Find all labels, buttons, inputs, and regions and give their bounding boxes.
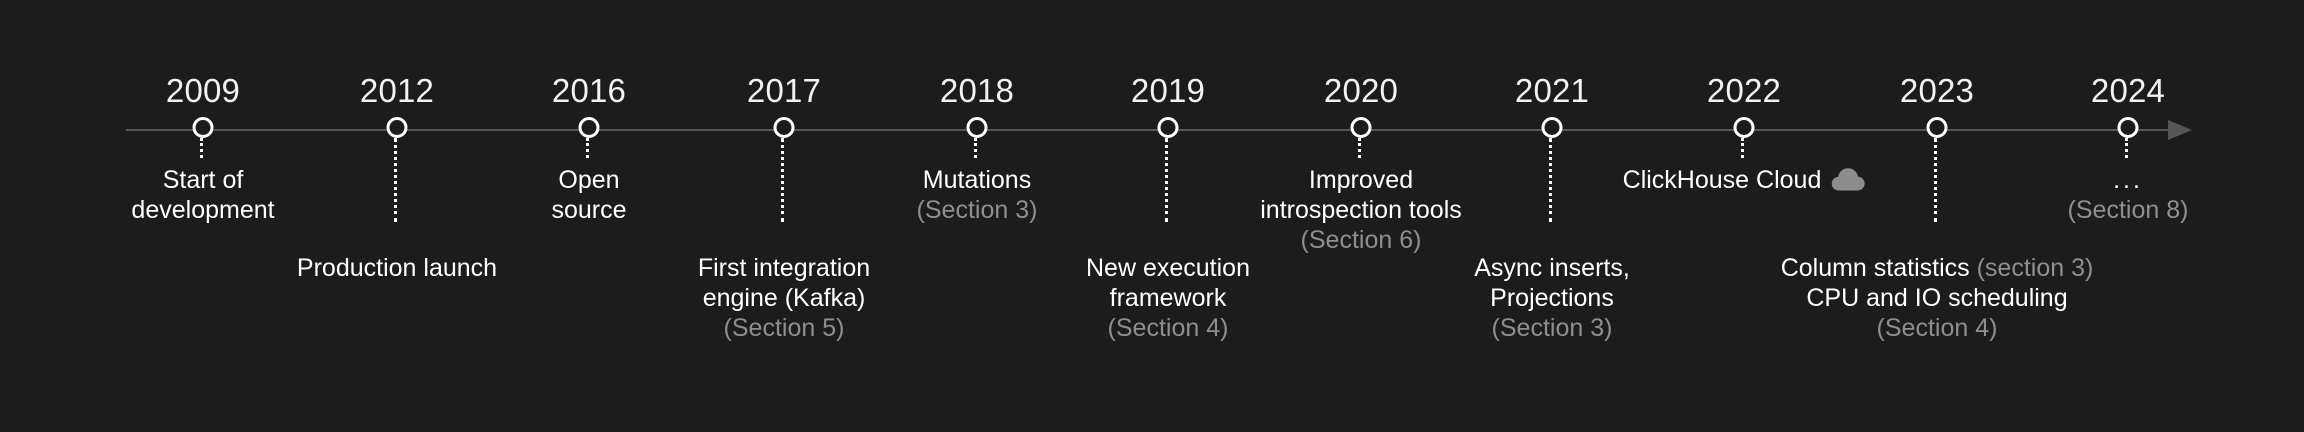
timeline-marker-circle-icon[interactable] bbox=[1734, 117, 1755, 138]
event-label: First integration engine (Kafka) (Sectio… bbox=[698, 253, 870, 343]
timeline-stem bbox=[974, 138, 980, 158]
event-label: New execution framework (Section 4) bbox=[1086, 253, 1250, 343]
year-label: 2009 bbox=[166, 72, 240, 110]
event-label-line1: New execution bbox=[1086, 254, 1250, 282]
year-label: 2020 bbox=[1324, 72, 1398, 110]
year-label: 2012 bbox=[360, 72, 434, 110]
event-label: Column statistics (section 3) CPU and IO… bbox=[1781, 253, 2094, 343]
timeline-stem bbox=[1165, 138, 1171, 222]
event-label-line1: Column statistics bbox=[1781, 254, 1970, 282]
event-label-line1: Mutations bbox=[923, 166, 1031, 194]
event-label: Async inserts, Projections (Section 3) bbox=[1474, 253, 1630, 343]
event-label: Production launch bbox=[297, 253, 497, 283]
event-section-ref: (Section 4) bbox=[1086, 313, 1250, 343]
year-label: 2018 bbox=[940, 72, 1014, 110]
event-label-line2: framework bbox=[1110, 284, 1227, 312]
event-label-line1: Open bbox=[558, 166, 619, 194]
timeline-stem bbox=[200, 138, 206, 158]
event-label-line1: Production launch bbox=[297, 254, 497, 282]
event-section-ref: (Section 3) bbox=[1474, 313, 1630, 343]
timeline-marker-circle-icon[interactable] bbox=[1542, 117, 1563, 138]
event-label: ... (Section 8) bbox=[2068, 165, 2189, 225]
event-label-line2: introspection tools bbox=[1260, 196, 1462, 224]
timeline-marker-circle-icon[interactable] bbox=[967, 117, 988, 138]
timeline-marker-circle-icon[interactable] bbox=[387, 117, 408, 138]
timeline-stem bbox=[394, 138, 400, 222]
year-label: 2021 bbox=[1515, 72, 1589, 110]
timeline-stem bbox=[1741, 138, 1747, 158]
timeline-marker-circle-icon[interactable] bbox=[774, 117, 795, 138]
event-section-ref: (Section 6) bbox=[1260, 225, 1462, 255]
timeline-axis-line bbox=[126, 129, 2171, 131]
event-label-line1: Start of bbox=[163, 166, 244, 194]
year-label: 2022 bbox=[1707, 72, 1781, 110]
event-section-ref: (Section 3) bbox=[917, 195, 1038, 225]
timeline-marker-circle-icon[interactable] bbox=[1927, 117, 1948, 138]
year-label: 2019 bbox=[1131, 72, 1205, 110]
timeline-figure: 2009 Start of development 2012 Productio… bbox=[0, 0, 2304, 432]
timeline-axis-arrow-icon bbox=[2168, 120, 2192, 140]
timeline-stem bbox=[2125, 138, 2131, 158]
event-label-line1: Async inserts, bbox=[1474, 254, 1630, 282]
timeline-marker-circle-icon[interactable] bbox=[1158, 117, 1179, 138]
cloud-icon bbox=[1831, 168, 1865, 199]
timeline-stem bbox=[586, 138, 592, 158]
event-section-ref: (Section 8) bbox=[2068, 195, 2189, 225]
event-label-line2: engine (Kafka) bbox=[703, 284, 866, 312]
event-label-line1: First integration bbox=[698, 254, 870, 282]
timeline-stem bbox=[1934, 138, 1940, 222]
event-label: Open source bbox=[551, 165, 626, 225]
event-label: ClickHouse Cloud bbox=[1623, 165, 1866, 199]
timeline-marker-circle-icon[interactable] bbox=[193, 117, 214, 138]
event-label: Improved introspection tools (Section 6) bbox=[1260, 165, 1462, 255]
event-section-ref: (Section 5) bbox=[698, 313, 870, 343]
year-label: 2024 bbox=[2091, 72, 2165, 110]
year-label: 2023 bbox=[1900, 72, 1974, 110]
timeline-stem bbox=[1358, 138, 1364, 158]
event-label: Start of development bbox=[131, 165, 274, 225]
timeline-stem bbox=[1549, 138, 1555, 222]
timeline-marker-circle-icon[interactable] bbox=[579, 117, 600, 138]
timeline-marker-circle-icon[interactable] bbox=[2118, 117, 2139, 138]
event-label-line2: Projections bbox=[1490, 284, 1614, 312]
timeline-marker-circle-icon[interactable] bbox=[1351, 117, 1372, 138]
event-label-line2: source bbox=[551, 196, 626, 224]
event-label-line2: CPU and IO scheduling bbox=[1806, 284, 2067, 312]
ellipsis-glyph: ... bbox=[2113, 166, 2143, 194]
event-label-line1: ClickHouse Cloud bbox=[1623, 166, 1822, 194]
timeline-stem bbox=[781, 138, 787, 222]
event-section-ref-inline: (section 3) bbox=[1977, 254, 2094, 282]
event-label-line1: Improved bbox=[1309, 166, 1413, 194]
year-label: 2017 bbox=[747, 72, 821, 110]
year-label: 2016 bbox=[552, 72, 626, 110]
event-label: Mutations (Section 3) bbox=[917, 165, 1038, 225]
event-label-line2: development bbox=[131, 196, 274, 224]
event-section-ref: (Section 4) bbox=[1781, 313, 2094, 343]
